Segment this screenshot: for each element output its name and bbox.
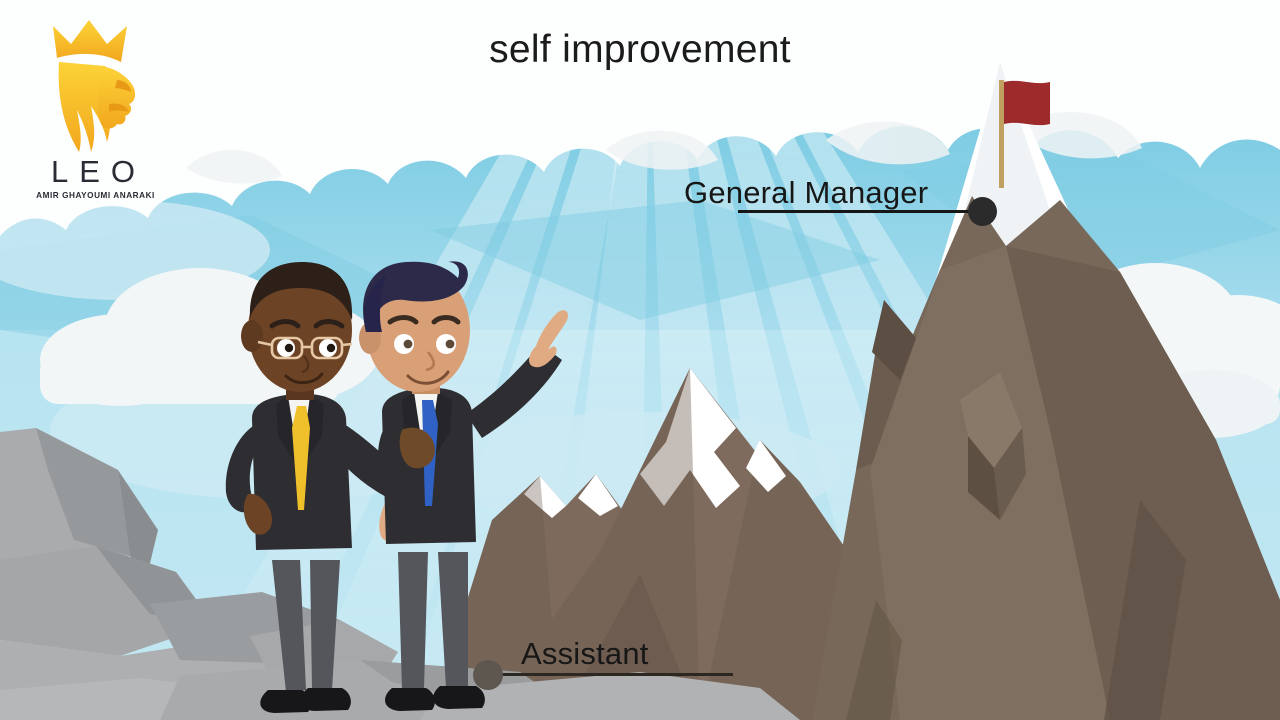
manager-pointing-hand (529, 310, 568, 367)
callout-dot-general-manager (968, 197, 997, 226)
manager-shoe-left (385, 688, 435, 711)
assistant-leg-right (310, 560, 340, 690)
characters-layer (0, 0, 1280, 720)
callout-dot-assistant (473, 660, 503, 690)
assistant-leg-left (272, 560, 306, 692)
callout-label-assistant: Assistant (521, 638, 649, 669)
assistant-ear (241, 320, 263, 352)
logo-subtitle: AMIR GHAYOUMI ANARAKI (14, 191, 174, 200)
callout-rule-assistant (488, 673, 733, 676)
page-title: self improvement (0, 30, 1280, 69)
illustration-canvas: LEO AMIR GHAYOUMI ANARAKI self improveme… (0, 0, 1280, 720)
callout-label-general-manager: General Manager (684, 177, 928, 208)
callout-rule-general-manager (738, 210, 986, 213)
manager-leg-right (438, 552, 468, 688)
logo-wordmark: LEO (14, 154, 174, 190)
assistant-shoe-right (300, 688, 351, 711)
manager-leg-left (398, 552, 428, 690)
manager-shoe-right (433, 686, 485, 709)
